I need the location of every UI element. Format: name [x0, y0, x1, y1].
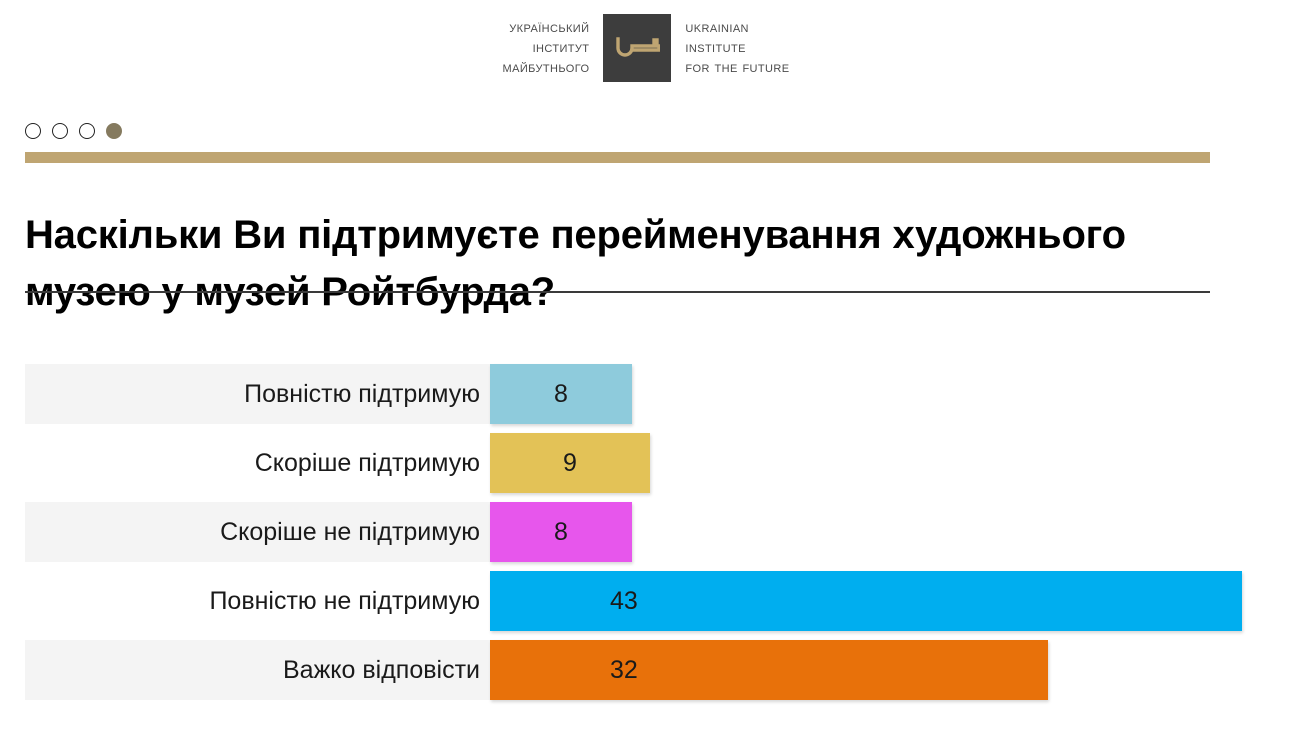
brand-name-uk-line-2: Інститут [503, 38, 590, 58]
bar-track: 8 [490, 364, 1292, 424]
bar-track: 8 [490, 502, 1292, 562]
bar-fill: 43 [490, 571, 1242, 631]
bar-category-label: Скоріше підтримую [25, 433, 480, 493]
brand-name-english: Ukrainian Institute for the Future [685, 18, 789, 77]
bar-value-label: 8 [554, 518, 568, 547]
bar-value-label: 8 [554, 380, 568, 409]
bar-category-label: Повністю підтримую [25, 364, 480, 424]
bar-fill: 8 [490, 364, 632, 424]
bar-category-label: Важко відповісти [25, 640, 480, 700]
pagination-dot-3[interactable] [79, 123, 95, 139]
bar-chart-row: Скоріше не підтримую 8 [0, 502, 1292, 562]
bar-category-label: Скоріше не підтримую [25, 502, 480, 562]
title-divider [25, 291, 1210, 293]
bar-value-label: 43 [610, 587, 638, 616]
brand-name-ukrainian: Український Інститут Майбутнього [503, 18, 590, 77]
brand-name-uk-line-3: Майбутнього [503, 58, 590, 78]
bar-value-label: 9 [563, 449, 577, 478]
pagination-dot-2[interactable] [52, 123, 68, 139]
bar-chart-row: Важко відповісти 32 [0, 640, 1292, 700]
brand-name-en-line-2: Institute [685, 38, 789, 58]
bar-track: 9 [490, 433, 1292, 493]
bar-chart-row: Повністю не підтримую 43 [0, 571, 1292, 631]
slide-pagination-dots[interactable] [25, 123, 122, 139]
bar-category-label: Повністю не підтримую [25, 571, 480, 631]
brand-name-en-line-1: Ukrainian [685, 18, 789, 38]
key-icon [603, 14, 671, 82]
brand-name-uk-line-1: Український [503, 18, 590, 38]
accent-rule [25, 152, 1210, 163]
pagination-dot-1[interactable] [25, 123, 41, 139]
brand-logo-lockup: Український Інститут Майбутнього Ukraini… [0, 14, 1292, 82]
bar-chart-row: Скоріше підтримую 9 [0, 433, 1292, 493]
bar-track: 43 [490, 571, 1292, 631]
page-title: Наскільки Ви підтримуєте перейменування … [25, 207, 1210, 321]
pagination-dot-4-active[interactable] [106, 123, 122, 139]
bar-chart: Повністю підтримую 8 Скоріше підтримую 9… [0, 364, 1292, 709]
bar-value-label: 32 [610, 656, 638, 685]
bar-fill: 9 [490, 433, 650, 493]
bar-track: 32 [490, 640, 1292, 700]
brand-name-en-line-3: for the Future [685, 58, 789, 78]
bar-chart-row: Повністю підтримую 8 [0, 364, 1292, 424]
bar-fill: 8 [490, 502, 632, 562]
bar-fill: 32 [490, 640, 1048, 700]
